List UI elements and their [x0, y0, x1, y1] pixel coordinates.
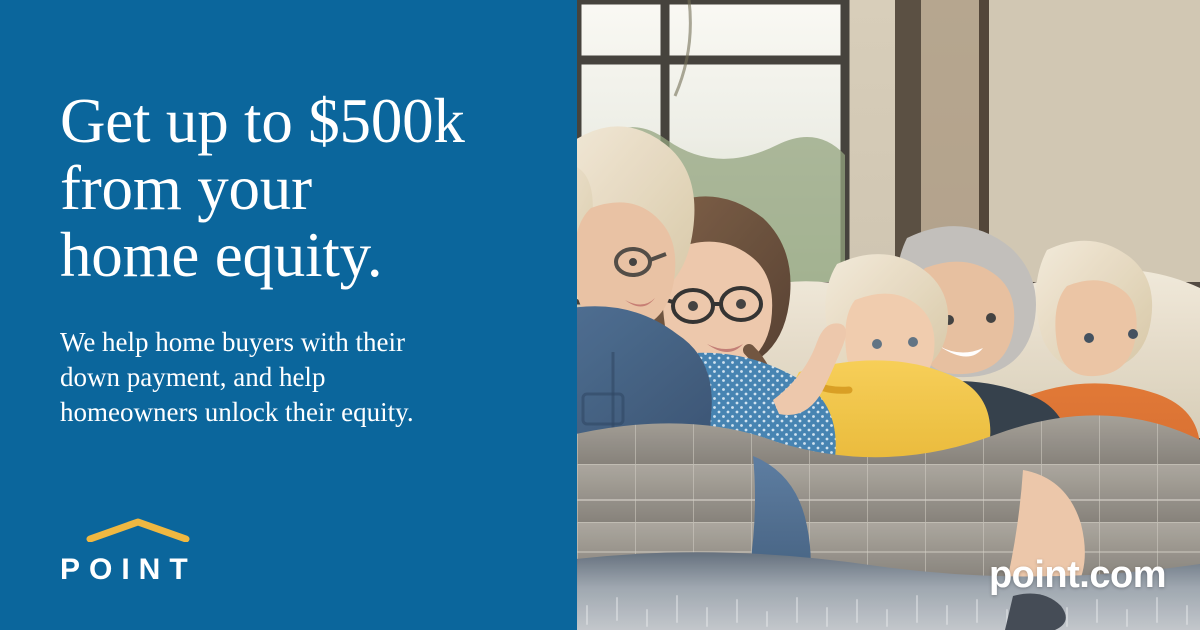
family-photo: point.com — [577, 0, 1200, 630]
logo-wordmark: POINT — [60, 555, 260, 585]
left-blue-panel: Get up to $500k from your home equity. W… — [0, 0, 577, 630]
roof-chevron-icon — [86, 518, 260, 547]
subheadline-text: We help home buyers with their down paym… — [60, 325, 510, 430]
point-logo[interactable]: POINT — [60, 518, 260, 585]
website-url-label[interactable]: point.com — [989, 556, 1166, 594]
page-title: Get up to $500k from your home equity. — [60, 88, 560, 289]
ad-banner: Get up to $500k from your home equity. W… — [0, 0, 1200, 630]
